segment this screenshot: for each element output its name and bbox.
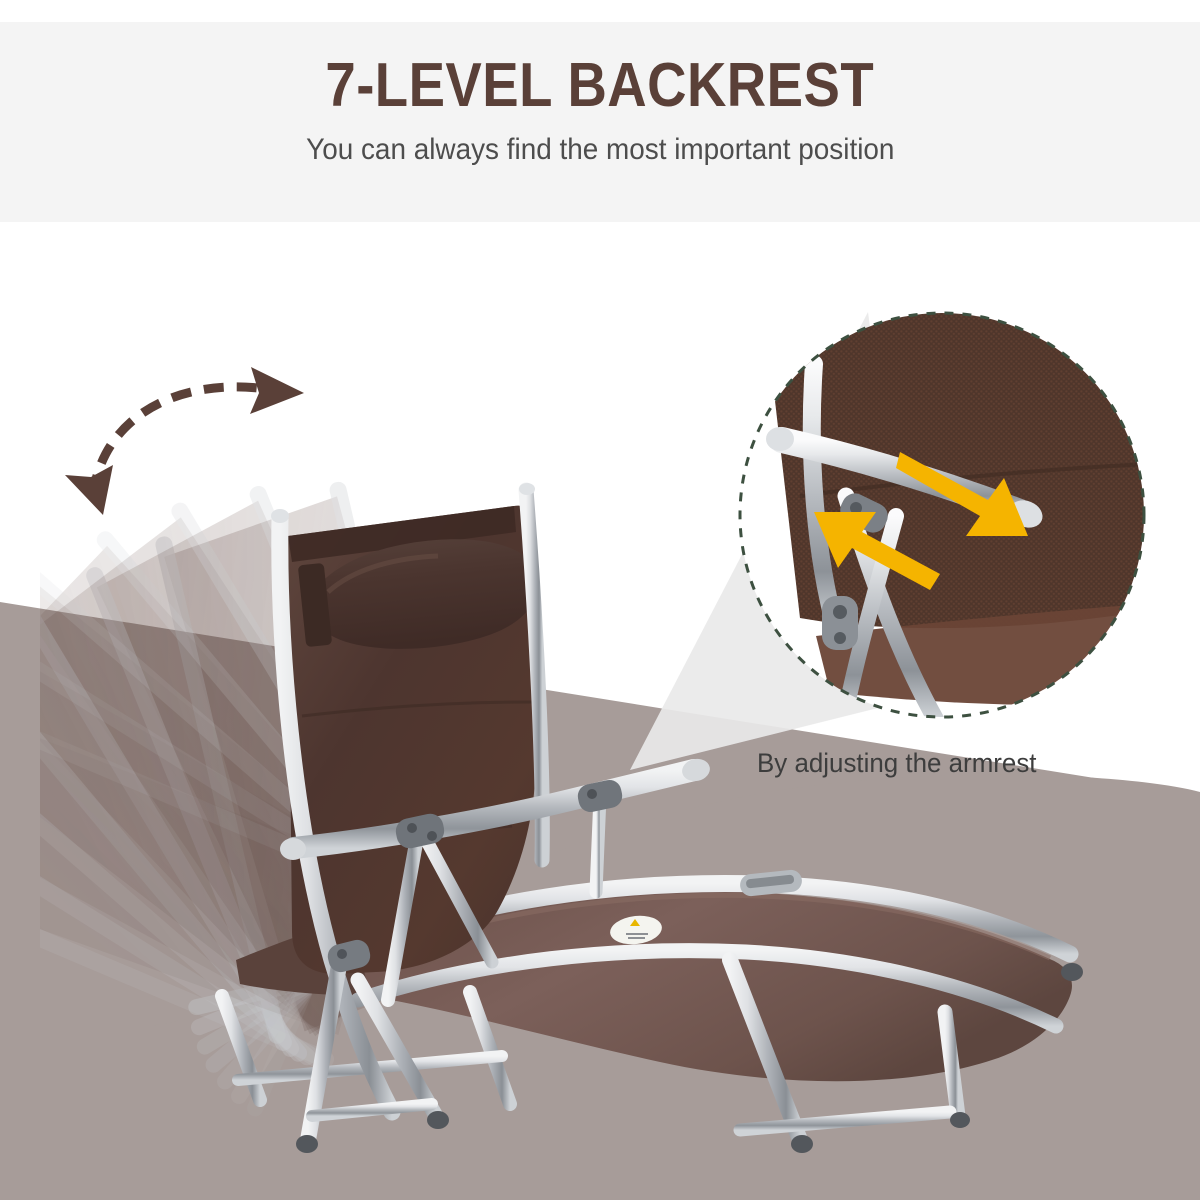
promo-image-canvas: 7-LEVEL BACKREST You can always find the…: [0, 0, 1200, 1200]
page-subtitle: You can always find the most important p…: [306, 133, 894, 167]
callout-photo: [740, 300, 1180, 720]
callout-caption: By adjusting the armrest: [757, 748, 1103, 779]
page-title: 7-LEVEL BACKREST: [326, 54, 875, 117]
armrest-detail-callout: [600, 300, 1180, 800]
header-band: 7-LEVEL BACKREST You can always find the…: [0, 22, 1200, 222]
top-white-strip: [0, 0, 1200, 22]
